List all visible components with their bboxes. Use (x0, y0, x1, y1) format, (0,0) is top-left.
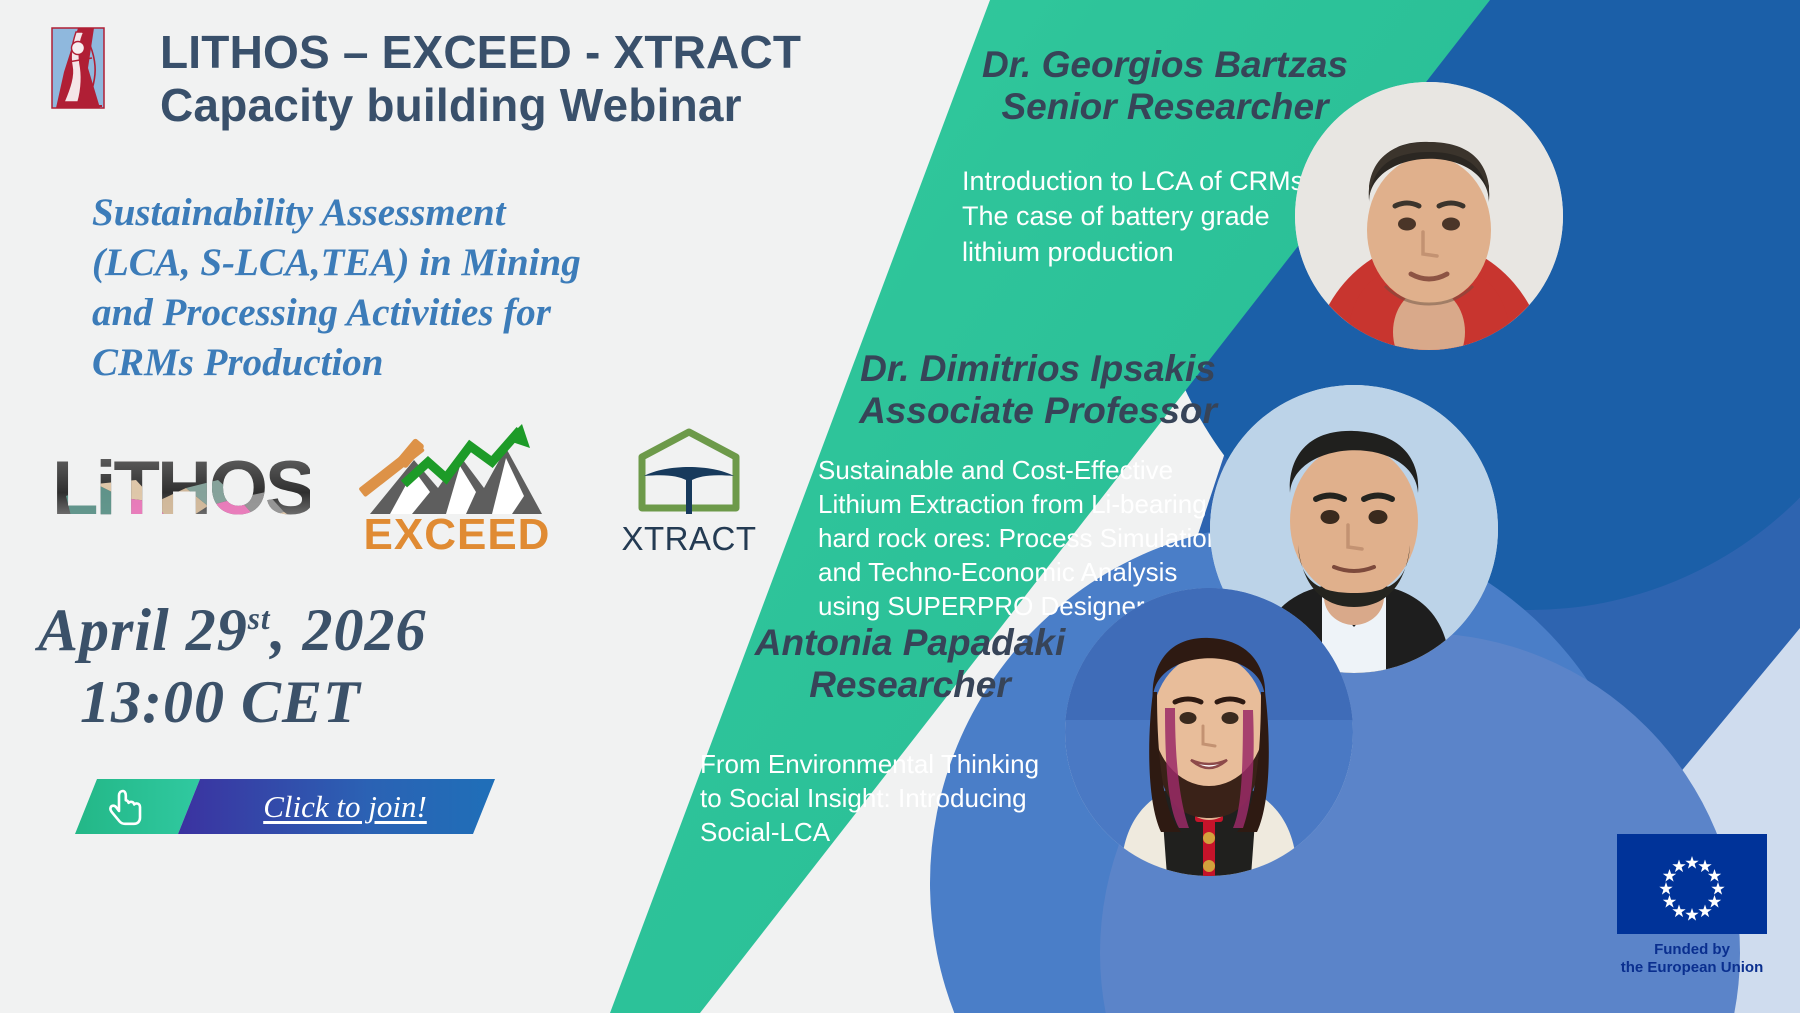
xtract-logo-text: XTRACT (604, 520, 774, 558)
speaker-2-talk-line3: hard rock ores: Process Simulation (818, 522, 1258, 556)
speaker-3-role: Researcher (700, 664, 1120, 706)
main-title-line1: LITHOS – EXCEED - XTRACT (160, 26, 960, 79)
eu-funding-caption: Funded by the European Union (1617, 941, 1767, 977)
speaker-2-role: Associate Professor (818, 390, 1258, 432)
pointing-hand-icon (105, 785, 149, 829)
webinar-date: April 29st, 2026 (38, 596, 427, 665)
xtract-logo: XTRACT (604, 428, 774, 558)
title-block: LITHOS – EXCEED - XTRACT Capacity buildi… (160, 26, 960, 133)
speaker-3-talk-line1: From Environmental Thinking (700, 748, 1120, 782)
exceed-logo: EXCEED (342, 418, 572, 560)
webinar-time: 13:00 CET (80, 668, 361, 737)
ntua-prometheus-logo (48, 22, 116, 114)
speaker-2-talk-line4: and Techno-Economic Analysis (818, 556, 1258, 590)
speaker-1-role: Senior Researcher (950, 86, 1380, 128)
speaker-card-2: Dr. Dimitrios Ipsakis Associate Professo… (818, 348, 1258, 623)
subtitle-line4: CRMs Production (92, 338, 732, 388)
speaker-3-portrait (1065, 588, 1353, 876)
lithos-logo: LiTHOS LiTHOS LiTHOS (52, 440, 310, 532)
eu-funding-logo: Funded by the European Union (1617, 834, 1767, 984)
subtitle-line2: (LCA, S-LCA,TEA) in Mining (92, 238, 732, 288)
subtitle-line3: and Processing Activities for (92, 288, 732, 338)
speaker-1-name: Dr. Georgios Bartzas (950, 44, 1380, 86)
speaker-2-talk-line1: Sustainable and Cost-Effective (818, 454, 1258, 488)
speaker-card-3: Antonia Papadaki Researcher From Environ… (700, 622, 1120, 850)
speaker-3-talk-line3: Social-LCA (700, 816, 1120, 850)
speaker-2-name: Dr. Dimitrios Ipsakis (818, 348, 1258, 390)
project-logos-row: LiTHOS LiTHOS LiTHOS (42, 418, 742, 558)
speaker-1-portrait (1295, 82, 1563, 350)
speaker-3-talk: From Environmental Thinking to Social In… (700, 748, 1120, 849)
date-ordinal-suffix: st (248, 601, 271, 636)
date-year: , 2026 (271, 597, 427, 663)
speaker-3-name: Antonia Papadaki (700, 622, 1120, 664)
eu-flag-icon (1617, 834, 1767, 934)
main-title-line2: Capacity building Webinar (160, 79, 960, 132)
exceed-logo-text: EXCEED (342, 510, 572, 560)
date-main: April 29 (38, 597, 248, 663)
subtitle-line1: Sustainability Assessment (92, 188, 732, 238)
eu-caption-line2: the European Union (1617, 959, 1767, 977)
speaker-2-talk-line2: Lithium Extraction from Li-bearing (818, 488, 1258, 522)
webinar-poster: LITHOS – EXCEED - XTRACT Capacity buildi… (0, 0, 1800, 1013)
webinar-subtitle: Sustainability Assessment (LCA, S-LCA,TE… (92, 188, 732, 388)
click-to-join-button[interactable]: Click to join! (75, 779, 495, 834)
speaker-3-talk-line2: to Social Insight: Introducing (700, 782, 1120, 816)
join-button-label[interactable]: Click to join! (215, 779, 475, 834)
eu-caption-line1: Funded by (1617, 941, 1767, 959)
